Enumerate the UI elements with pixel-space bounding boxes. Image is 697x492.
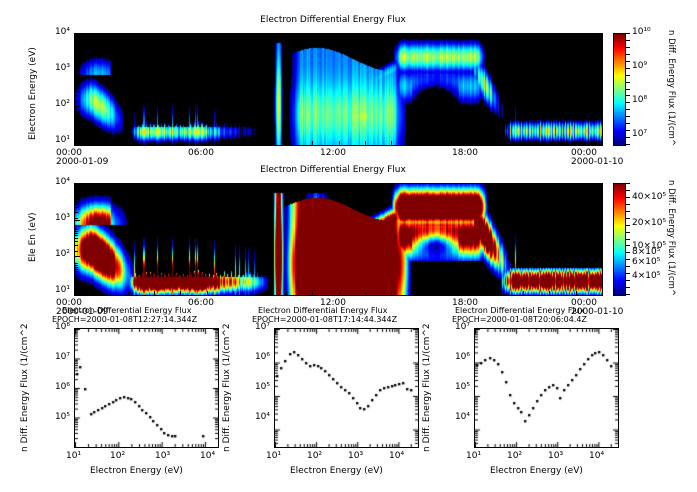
axis-tick (75, 256, 80, 257)
sp3-xtick-0: 10¹ (466, 451, 481, 461)
axis-minor-tick (75, 238, 78, 239)
spectrum-3-ylabel: n Diff. Energy Flux (1/(cm^2 (422, 323, 432, 452)
axis-tick (259, 141, 260, 145)
colorbar-tick (626, 102, 630, 103)
top-colorbar-label-wrap: n Diff. Energy Flux (1/(cm^ (676, 30, 697, 40)
axis-tick (391, 141, 392, 145)
axis-minor-tick (75, 52, 78, 53)
axis-tick (444, 141, 445, 145)
sp1-xtick-1: 10² (110, 451, 125, 461)
spectrum-3-subtitle: EPOCH=2000-01-08T20:06:04.4Z (452, 315, 587, 324)
axis-tick (286, 141, 287, 145)
axis-tick (180, 291, 181, 295)
axis-tick (101, 291, 102, 295)
top-spectrogram-frame[interactable] (74, 33, 603, 146)
spectrum-2-canvas[interactable] (275, 329, 418, 447)
axis-minor-tick (75, 231, 78, 232)
axis-tick (154, 291, 155, 295)
colorbar-tick (626, 259, 630, 260)
axis-tick (233, 141, 234, 145)
axis-minor-tick (75, 196, 78, 197)
axis-tick (128, 141, 129, 145)
axis-tick (207, 141, 208, 145)
colorbar-tick (626, 82, 630, 83)
axis-minor-tick (75, 229, 78, 230)
top-panel-ylabel: Electron Energy (eV) (28, 47, 38, 140)
axis-tick (286, 291, 287, 295)
axis-minor-tick (75, 218, 78, 219)
axis-minor-tick (75, 263, 78, 264)
axis-minor-tick (75, 46, 78, 47)
axis-tick (154, 141, 155, 145)
colorbar-tick (626, 89, 630, 90)
axis-tick (497, 291, 498, 295)
axis-tick (576, 291, 577, 295)
spectrum-2-ylabel: n Diff. Energy Flux (1/(cm^2 (222, 323, 232, 452)
axis-minor-tick (75, 81, 78, 82)
top-spectrogram-canvas[interactable] (75, 34, 602, 145)
axis-tick (312, 141, 313, 145)
axis-minor-tick (75, 269, 78, 270)
axis-minor-tick (75, 113, 78, 114)
axis-minor-tick (75, 285, 78, 286)
mid-cb-tick-1: 20×10⁵ (632, 218, 666, 228)
axis-minor-tick (75, 235, 78, 236)
mid-cb-tick-5: 4×10⁵ (632, 271, 660, 281)
mid-ytick-0: 10⁴ (55, 177, 70, 187)
mid-ytick-2: 10² (55, 249, 70, 259)
sp3-xtick-3: 10⁴ (589, 451, 604, 461)
axis-tick (75, 142, 80, 143)
mid-ytick-1: 10³ (55, 213, 70, 223)
spectrum-1-canvas[interactable] (75, 329, 218, 447)
colorbar-tick (626, 75, 630, 76)
axis-tick (470, 291, 471, 295)
axis-minor-tick (75, 85, 78, 86)
colorbar-tick (626, 232, 630, 233)
top-ytick-3: 10¹ (55, 135, 70, 145)
axis-tick (391, 291, 392, 295)
axis-minor-tick (75, 95, 78, 96)
spectrum-3-ylabel-wrap: n Diff. Energy Flux (1/(cm^2 (422, 452, 551, 462)
colorbar-tick (626, 239, 630, 240)
colorbar-tick (626, 123, 630, 124)
mid-ytick-3: 10¹ (55, 285, 70, 295)
colorbar-tick (626, 144, 630, 145)
colorbar-tick (626, 54, 630, 55)
colorbar-tick (626, 68, 630, 69)
axis-minor-tick (75, 212, 78, 213)
sp1-ytick-1: 10⁷ (55, 352, 70, 362)
colorbar-tick (626, 137, 630, 138)
spectrum-3-yticks: 10⁷ 10⁶ 10⁵ 10⁴ (444, 328, 472, 448)
sp2-xtick-1: 10² (307, 451, 322, 461)
axis-tick (523, 141, 524, 145)
axis-minor-tick (75, 207, 78, 208)
colorbar-tick (626, 183, 630, 184)
colorbar-tick (626, 204, 630, 205)
axis-tick (497, 141, 498, 145)
spectrum-1-ylabel: n Diff. Energy Flux (1/(cm^2 (20, 323, 30, 452)
axis-tick (523, 291, 524, 295)
axis-minor-tick (75, 49, 78, 50)
colorbar-tick (626, 116, 630, 117)
middle-panel-ylabel: Ele En (eV) (28, 212, 38, 262)
spectrum-2-ylabel-wrap: n Diff. Energy Flux (1/(cm^2 (222, 452, 351, 462)
axis-tick (418, 141, 419, 145)
axis-minor-tick (75, 101, 78, 102)
axis-tick (75, 220, 80, 221)
top-panel-title: Electron Differential Energy Flux (183, 15, 483, 25)
spectrum-2-subtitle: EPOCH=2000-01-08T17:14:44.344Z (252, 315, 397, 324)
axis-tick (470, 141, 471, 145)
top-ytick-1: 10³ (55, 63, 70, 73)
spectrum-2-yticks: 10⁷ 10⁶ 10⁵ 10⁴ (244, 328, 272, 448)
axis-minor-tick (75, 135, 78, 136)
axis-minor-tick (75, 79, 78, 80)
axis-tick (365, 291, 366, 295)
sp1-xtick-3: 10⁴ (200, 451, 215, 461)
axis-tick (75, 106, 80, 107)
colorbar-tick (626, 225, 630, 226)
axis-minor-tick (75, 57, 78, 58)
colorbar-tick (626, 95, 630, 96)
colorbar-tick (626, 252, 630, 253)
top-cb-tick-2: 10⁸ (632, 95, 647, 105)
axis-tick (75, 70, 80, 71)
colorbar-tick (626, 197, 630, 198)
axis-minor-tick (75, 91, 78, 92)
axis-minor-tick (75, 197, 78, 198)
axis-tick (259, 291, 260, 295)
spectrum-1-ylabel-wrap: n Diff. Energy Flux (1/(cm^2 (20, 452, 149, 462)
colorbar-tick (626, 109, 630, 110)
spectrum-1-yticks: 10⁸ 10⁷ 10⁶ 10⁵ (44, 328, 72, 448)
axis-tick (312, 291, 313, 295)
axis-tick (75, 34, 80, 35)
axis-minor-tick (75, 267, 78, 268)
axis-tick (365, 141, 366, 145)
axis-tick (128, 291, 129, 295)
axis-tick (576, 141, 577, 145)
axis-minor-tick (75, 199, 78, 200)
axis-tick (418, 291, 419, 295)
axis-minor-tick (75, 271, 78, 272)
spectrum-3-frame[interactable] (474, 328, 619, 448)
axis-tick (339, 141, 340, 145)
colorbar-tick (626, 130, 630, 131)
sp3-ytick-3: 10⁴ (455, 412, 470, 422)
top-xtick-3: 18:00 (452, 148, 478, 158)
axis-tick (339, 291, 340, 295)
axis-minor-tick (75, 47, 78, 48)
axis-tick (549, 141, 550, 145)
mid-xtick-1: 06:00 (188, 298, 214, 308)
mid-cb-tick-3: 8×10⁵ (632, 247, 660, 257)
colorbar-tick (626, 61, 630, 62)
axis-minor-tick (75, 115, 78, 116)
top-xdate-right: 2000-01-10 (571, 157, 623, 167)
axis-minor-tick (75, 241, 78, 242)
middle-spectrogram-frame[interactable] (74, 183, 603, 296)
sp1-ytick-0: 10⁸ (55, 322, 70, 332)
axis-tick (75, 292, 80, 293)
axis-minor-tick (75, 62, 78, 63)
sp1-xtick-2: 10³ (155, 451, 170, 461)
axis-tick (233, 291, 234, 295)
top-xtick-2: 12:00 (320, 148, 346, 158)
sp2-xtick-0: 10¹ (266, 451, 281, 461)
colorbar-tick (626, 218, 630, 219)
spectrum-2-frame[interactable] (274, 328, 419, 448)
axis-tick (75, 184, 80, 185)
sp1-xtick-0: 10¹ (66, 451, 81, 461)
axis-minor-tick (75, 233, 78, 234)
top-xtick-1: 06:00 (188, 148, 214, 158)
axis-minor-tick (75, 279, 78, 280)
top-cb-tick-1: 10⁹ (632, 61, 647, 71)
spectrum-3-xlabel: Electron Energy (eV) (490, 466, 583, 476)
sp3-ytick-1: 10⁶ (455, 352, 470, 362)
middle-spectrogram-canvas[interactable] (75, 184, 602, 295)
sp3-xtick-2: 10³ (548, 451, 563, 461)
top-colorbar-canvas[interactable] (614, 34, 625, 145)
top-xdate-left: 2000-01-09 (56, 157, 108, 167)
axis-minor-tick (75, 204, 78, 205)
spectrum-3-title: Electron Differential Energy Flux (455, 306, 584, 315)
top-ytick-0: 10⁴ (55, 27, 70, 37)
sp3-ytick-2: 10⁵ (455, 382, 470, 392)
spectrum-2-xlabel: Electron Energy (eV) (290, 466, 383, 476)
axis-minor-tick (75, 83, 78, 84)
axis-minor-tick (75, 119, 78, 120)
sp3-xtick-1: 10² (507, 451, 522, 461)
axis-minor-tick (75, 265, 78, 266)
middle-panel-yticks: 10⁴ 10³ 10² 10¹ (42, 183, 72, 296)
axis-minor-tick (75, 202, 78, 203)
sp1-ytick-2: 10⁶ (55, 382, 70, 392)
middle-panel-title: Electron Differential Energy Flux (183, 165, 483, 175)
colorbar-tick (626, 287, 630, 288)
colorbar-tick (626, 266, 630, 267)
spectrum-1-frame[interactable] (74, 328, 219, 448)
axis-minor-tick (75, 54, 78, 55)
axis-tick (180, 141, 181, 145)
axis-tick (602, 141, 603, 145)
spectrum-3-canvas[interactable] (475, 329, 618, 447)
top-ytick-2: 10² (55, 99, 70, 109)
axis-minor-tick (75, 251, 78, 252)
middle-colorbar-canvas[interactable] (614, 184, 625, 295)
mid-cb-tick-4: 6×10⁵ (632, 257, 660, 267)
spectrum-1-xlabel: Electron Energy (eV) (90, 466, 183, 476)
top-colorbar-label: n Diff. Energy Flux (1/(cm^ (666, 30, 676, 146)
axis-minor-tick (75, 125, 78, 126)
axis-minor-tick (75, 129, 78, 130)
axis-minor-tick (75, 275, 78, 276)
spectrum-2-title: Electron Differential Energy Flux (258, 306, 387, 315)
sp2-ytick-0: 10⁷ (255, 322, 270, 332)
top-panel-yticks: 10⁴ 10³ 10² 10¹ (42, 33, 72, 146)
colorbar-tick (626, 245, 630, 246)
sp2-ytick-1: 10⁶ (255, 352, 270, 362)
axis-minor-tick (75, 245, 78, 246)
sp1-ytick-3: 10⁵ (55, 412, 70, 422)
colorbar-tick (626, 280, 630, 281)
mid-cb-tick-0: 40×10⁵ (632, 192, 666, 202)
colorbar-tick (626, 294, 630, 295)
axis-minor-tick (75, 88, 78, 89)
colorbar-tick (626, 273, 630, 274)
axis-tick (549, 291, 550, 295)
middle-colorbar-label-wrap: n Diff. Energy Flux (1/(cm^ (676, 180, 697, 190)
top-colorbar[interactable] (613, 33, 626, 146)
spectrum-1-subtitle: EPOCH=2000-01-08T12:27:14.344Z (52, 315, 197, 324)
sp2-xtick-2: 10³ (348, 451, 363, 461)
axis-tick (207, 291, 208, 295)
axis-tick (444, 291, 445, 295)
middle-colorbar[interactable] (613, 183, 626, 296)
axis-tick (101, 141, 102, 145)
sp2-ytick-2: 10⁵ (255, 382, 270, 392)
colorbar-tick (626, 40, 630, 41)
axis-minor-tick (75, 68, 78, 69)
axis-minor-tick (75, 121, 78, 122)
middle-colorbar-label: n Diff. Energy Flux (1/(cm^ (666, 180, 676, 296)
top-cb-tick-3: 10⁷ (632, 129, 647, 139)
sp2-ytick-3: 10⁴ (255, 412, 270, 422)
axis-minor-tick (75, 117, 78, 118)
sp3-ytick-0: 10⁷ (455, 322, 470, 332)
axis-tick (602, 291, 603, 295)
colorbar-tick (626, 190, 630, 191)
sp2-xtick-3: 10⁴ (389, 451, 404, 461)
colorbar-tick (626, 33, 630, 34)
top-cb-tick-0: 10¹⁰ (632, 27, 651, 37)
spectrum-1-title: Electron Differential Energy Flux (62, 306, 191, 315)
colorbar-tick (626, 211, 630, 212)
colorbar-tick (626, 47, 630, 48)
